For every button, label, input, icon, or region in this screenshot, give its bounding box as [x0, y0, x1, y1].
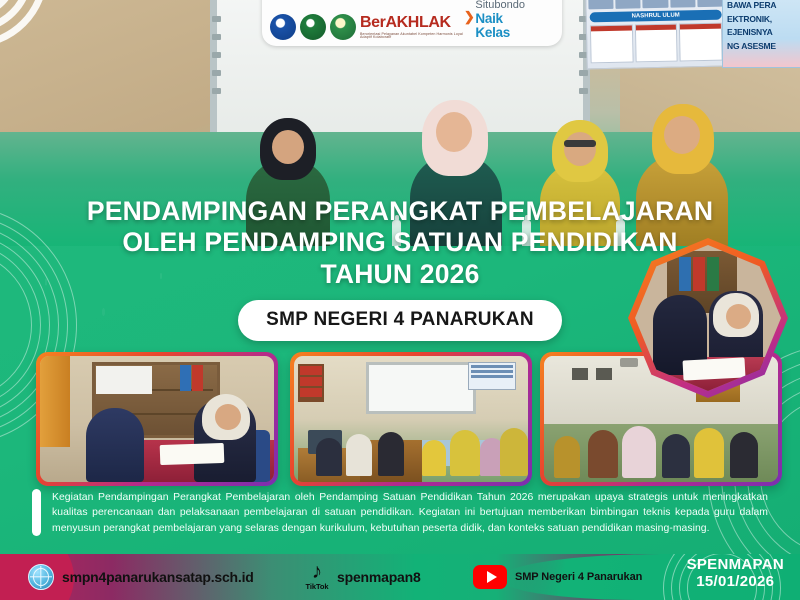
footer-youtube-channel: SMP Negeri 4 Panarukan [515, 571, 642, 583]
tiktok-label: TikTok [306, 582, 329, 591]
wall-poster-line-4: NG ASESME [723, 38, 800, 52]
footer-bar: smpn4panarukansatap.sch.id ♪ TikTok spen… [0, 554, 800, 600]
header-logo-banner: BerAKHLAK❯ Berorientasi Pelayanan Akunta… [262, 0, 562, 46]
description-panel: Kegiatan Pendampingan Perangkat Pembelaj… [32, 489, 768, 536]
tut-wuri-handayani-logo-icon [270, 14, 296, 40]
photo-card-2[interactable] [290, 352, 532, 486]
photo-card-1[interactable] [36, 352, 278, 486]
globe-icon [28, 564, 54, 590]
situbondo-naik-kelas-logo: Situbondo Naik Kelas [475, 0, 527, 40]
footer-website-item[interactable]: smpn4panarukansatap.sch.id [28, 564, 254, 590]
youtube-icon [473, 565, 507, 589]
berakhlak-caret-icon: ❯ [464, 10, 475, 23]
tiktok-icon: ♪ TikTok [305, 562, 329, 592]
hexagon-badge-photo [635, 245, 781, 391]
wall-calendar: NASHRUL ULUM [585, 0, 727, 69]
footer-brand-block: SPENMAPAN 15/01/2026 [687, 557, 784, 591]
footer-website-label: smpn4panarukansatap.sch.id [62, 569, 254, 585]
description-text: Kegiatan Pendampingan Perangkat Pembelaj… [52, 489, 768, 536]
kabupaten-situbondo-logo-icon [300, 14, 326, 40]
footer-brand-date: 15/01/2026 [687, 574, 784, 591]
photo-2-scene [294, 356, 528, 482]
wall-poster-line-2: EKTRONIK, [723, 11, 800, 25]
title-line-1: PENDAMPINGAN PERANGKAT PEMBELAJARAN [0, 196, 800, 227]
berakhlak-title: BerAKHLAK [360, 14, 451, 31]
poster-canvas: NASHRUL ULUM BAWA PERA EKTRONIK, EJENISN… [0, 0, 800, 600]
footer-youtube-item[interactable]: SMP Negeri 4 Panarukan [473, 565, 642, 589]
wall-poster-line-1: BAWA PERA [723, 0, 800, 11]
berakhlak-logo: BerAKHLAK❯ Berorientasi Pelayanan Akunta… [360, 15, 467, 40]
school-emblem-logo-icon [330, 14, 356, 40]
hexagon-photo-badge[interactable] [628, 238, 788, 398]
footer-tiktok-item[interactable]: ♪ TikTok spenmapan8 [305, 562, 421, 592]
wall-poster-line-3: EJENISNYA [723, 24, 800, 38]
footer-brand-name: SPENMAPAN [687, 557, 784, 574]
sunburst-icon [533, 0, 554, 10]
wall-poster-right: BAWA PERA EKTRONIK, EJENISNYA NG ASESME [722, 0, 800, 68]
school-name-pill: SMP NEGERI 4 PANARUKAN [238, 300, 562, 341]
berakhlak-tagline: Berorientasi Pelayanan Akuntabel Kompete… [360, 33, 467, 40]
situbondo-line-2: Naik Kelas [475, 12, 527, 40]
situbondo-line-1: Situbondo [475, 0, 527, 12]
photo-1-scene [40, 356, 274, 482]
footer-tiktok-handle: spenmapan8 [337, 569, 421, 585]
description-accent-bar [32, 489, 41, 536]
